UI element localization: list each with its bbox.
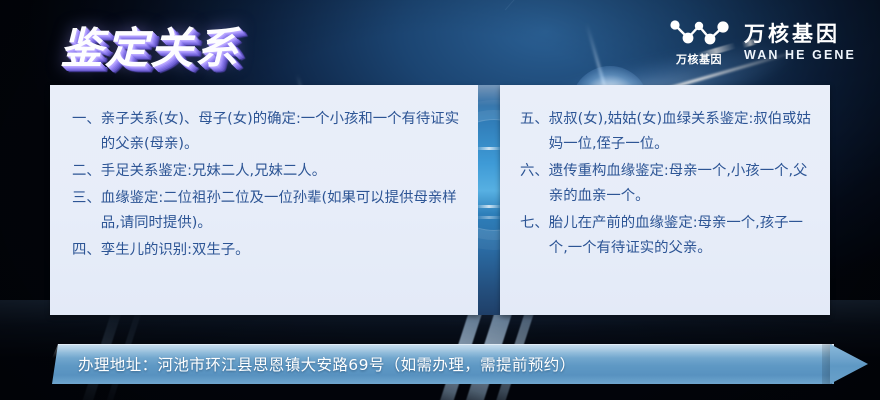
list-item-number: 七、: [520, 211, 549, 261]
poster-canvas: 鉴定关系: [0, 0, 880, 400]
list-item-number: 一、: [72, 107, 101, 157]
banner-text: 办理地址：河池市环江县思恩镇大安路69号（如需办理，需提前预约）: [78, 344, 576, 384]
brand-logo: 万核基因 万核基因 WAN HE GENE: [668, 18, 856, 67]
list-item-number: 二、: [72, 159, 101, 184]
relationship-list-right: 五、 叔叔(女),姑姑(女)血绿关系鉴定:叔伯或姑妈一位,侄子一位。 六、 遗传…: [500, 85, 830, 261]
info-panel-left: 一、 亲子关系(女)、母子(女)的确定:一个小孩和一个有待证实的父亲(母亲)。 …: [50, 85, 478, 315]
list-item: 一、 亲子关系(女)、母子(女)的确定:一个小孩和一个有待证实的父亲(母亲)。: [72, 107, 462, 157]
list-item-number: 四、: [72, 238, 101, 263]
list-item-text: 叔叔(女),姑姑(女)血绿关系鉴定:叔伯或姑妈一位,侄子一位。: [549, 107, 816, 157]
list-item-text: 胎儿在产前的血缘鉴定:母亲一个,孩子一个,一个有待证实的父亲。: [549, 211, 816, 261]
logo-mark-label: 万核基因: [676, 51, 722, 67]
list-item: 五、 叔叔(女),姑姑(女)血绿关系鉴定:叔伯或姑妈一位,侄子一位。: [520, 107, 816, 157]
panel-divider: [478, 85, 500, 315]
logo-wordmark: 万核基因 WAN HE GENE: [744, 23, 856, 62]
list-item: 七、 胎儿在产前的血缘鉴定:母亲一个,孩子一个,一个有待证实的父亲。: [520, 211, 816, 261]
list-item-text: 手足关系鉴定:兄妹二人,兄妹二人。: [101, 159, 462, 184]
logo-mark: 万核基因: [668, 18, 730, 67]
info-panel-right: 五、 叔叔(女),姑姑(女)血绿关系鉴定:叔伯或姑妈一位,侄子一位。 六、 遗传…: [500, 85, 830, 315]
logo-name-cn: 万核基因: [744, 23, 856, 45]
page-title: 鉴定关系: [60, 14, 240, 76]
relationship-list-left: 一、 亲子关系(女)、母子(女)的确定:一个小孩和一个有待证实的父亲(母亲)。 …: [50, 85, 478, 263]
list-item: 六、 遗传重构血缘鉴定:母亲一个,小孩一个,父亲的血亲一个。: [520, 159, 816, 209]
address-banner: 办理地址：河池市环江县思恩镇大安路69号（如需办理，需提前预约）: [52, 344, 868, 384]
list-item-number: 三、: [72, 186, 101, 236]
molecule-nodes-icon: [668, 18, 730, 48]
list-item-text: 遗传重构血缘鉴定:母亲一个,小孩一个,父亲的血亲一个。: [549, 159, 816, 209]
list-item-text: 亲子关系(女)、母子(女)的确定:一个小孩和一个有待证实的父亲(母亲)。: [101, 107, 462, 157]
list-item-number: 六、: [520, 159, 549, 209]
list-item-number: 五、: [520, 107, 549, 157]
list-item-text: 孪生儿的识别:双生子。: [101, 238, 462, 263]
logo-name-en: WAN HE GENE: [744, 48, 856, 62]
list-item: 二、 手足关系鉴定:兄妹二人,兄妹二人。: [72, 159, 462, 184]
list-item: 三、 血缘鉴定:二位祖孙二位及一位孙辈(如果可以提供母亲样品,请同时提供)。: [72, 186, 462, 236]
banner-arrow-icon: [830, 344, 868, 384]
list-item-text: 血缘鉴定:二位祖孙二位及一位孙辈(如果可以提供母亲样品,请同时提供)。: [101, 186, 462, 236]
list-item: 四、 孪生儿的识别:双生子。: [72, 238, 462, 263]
